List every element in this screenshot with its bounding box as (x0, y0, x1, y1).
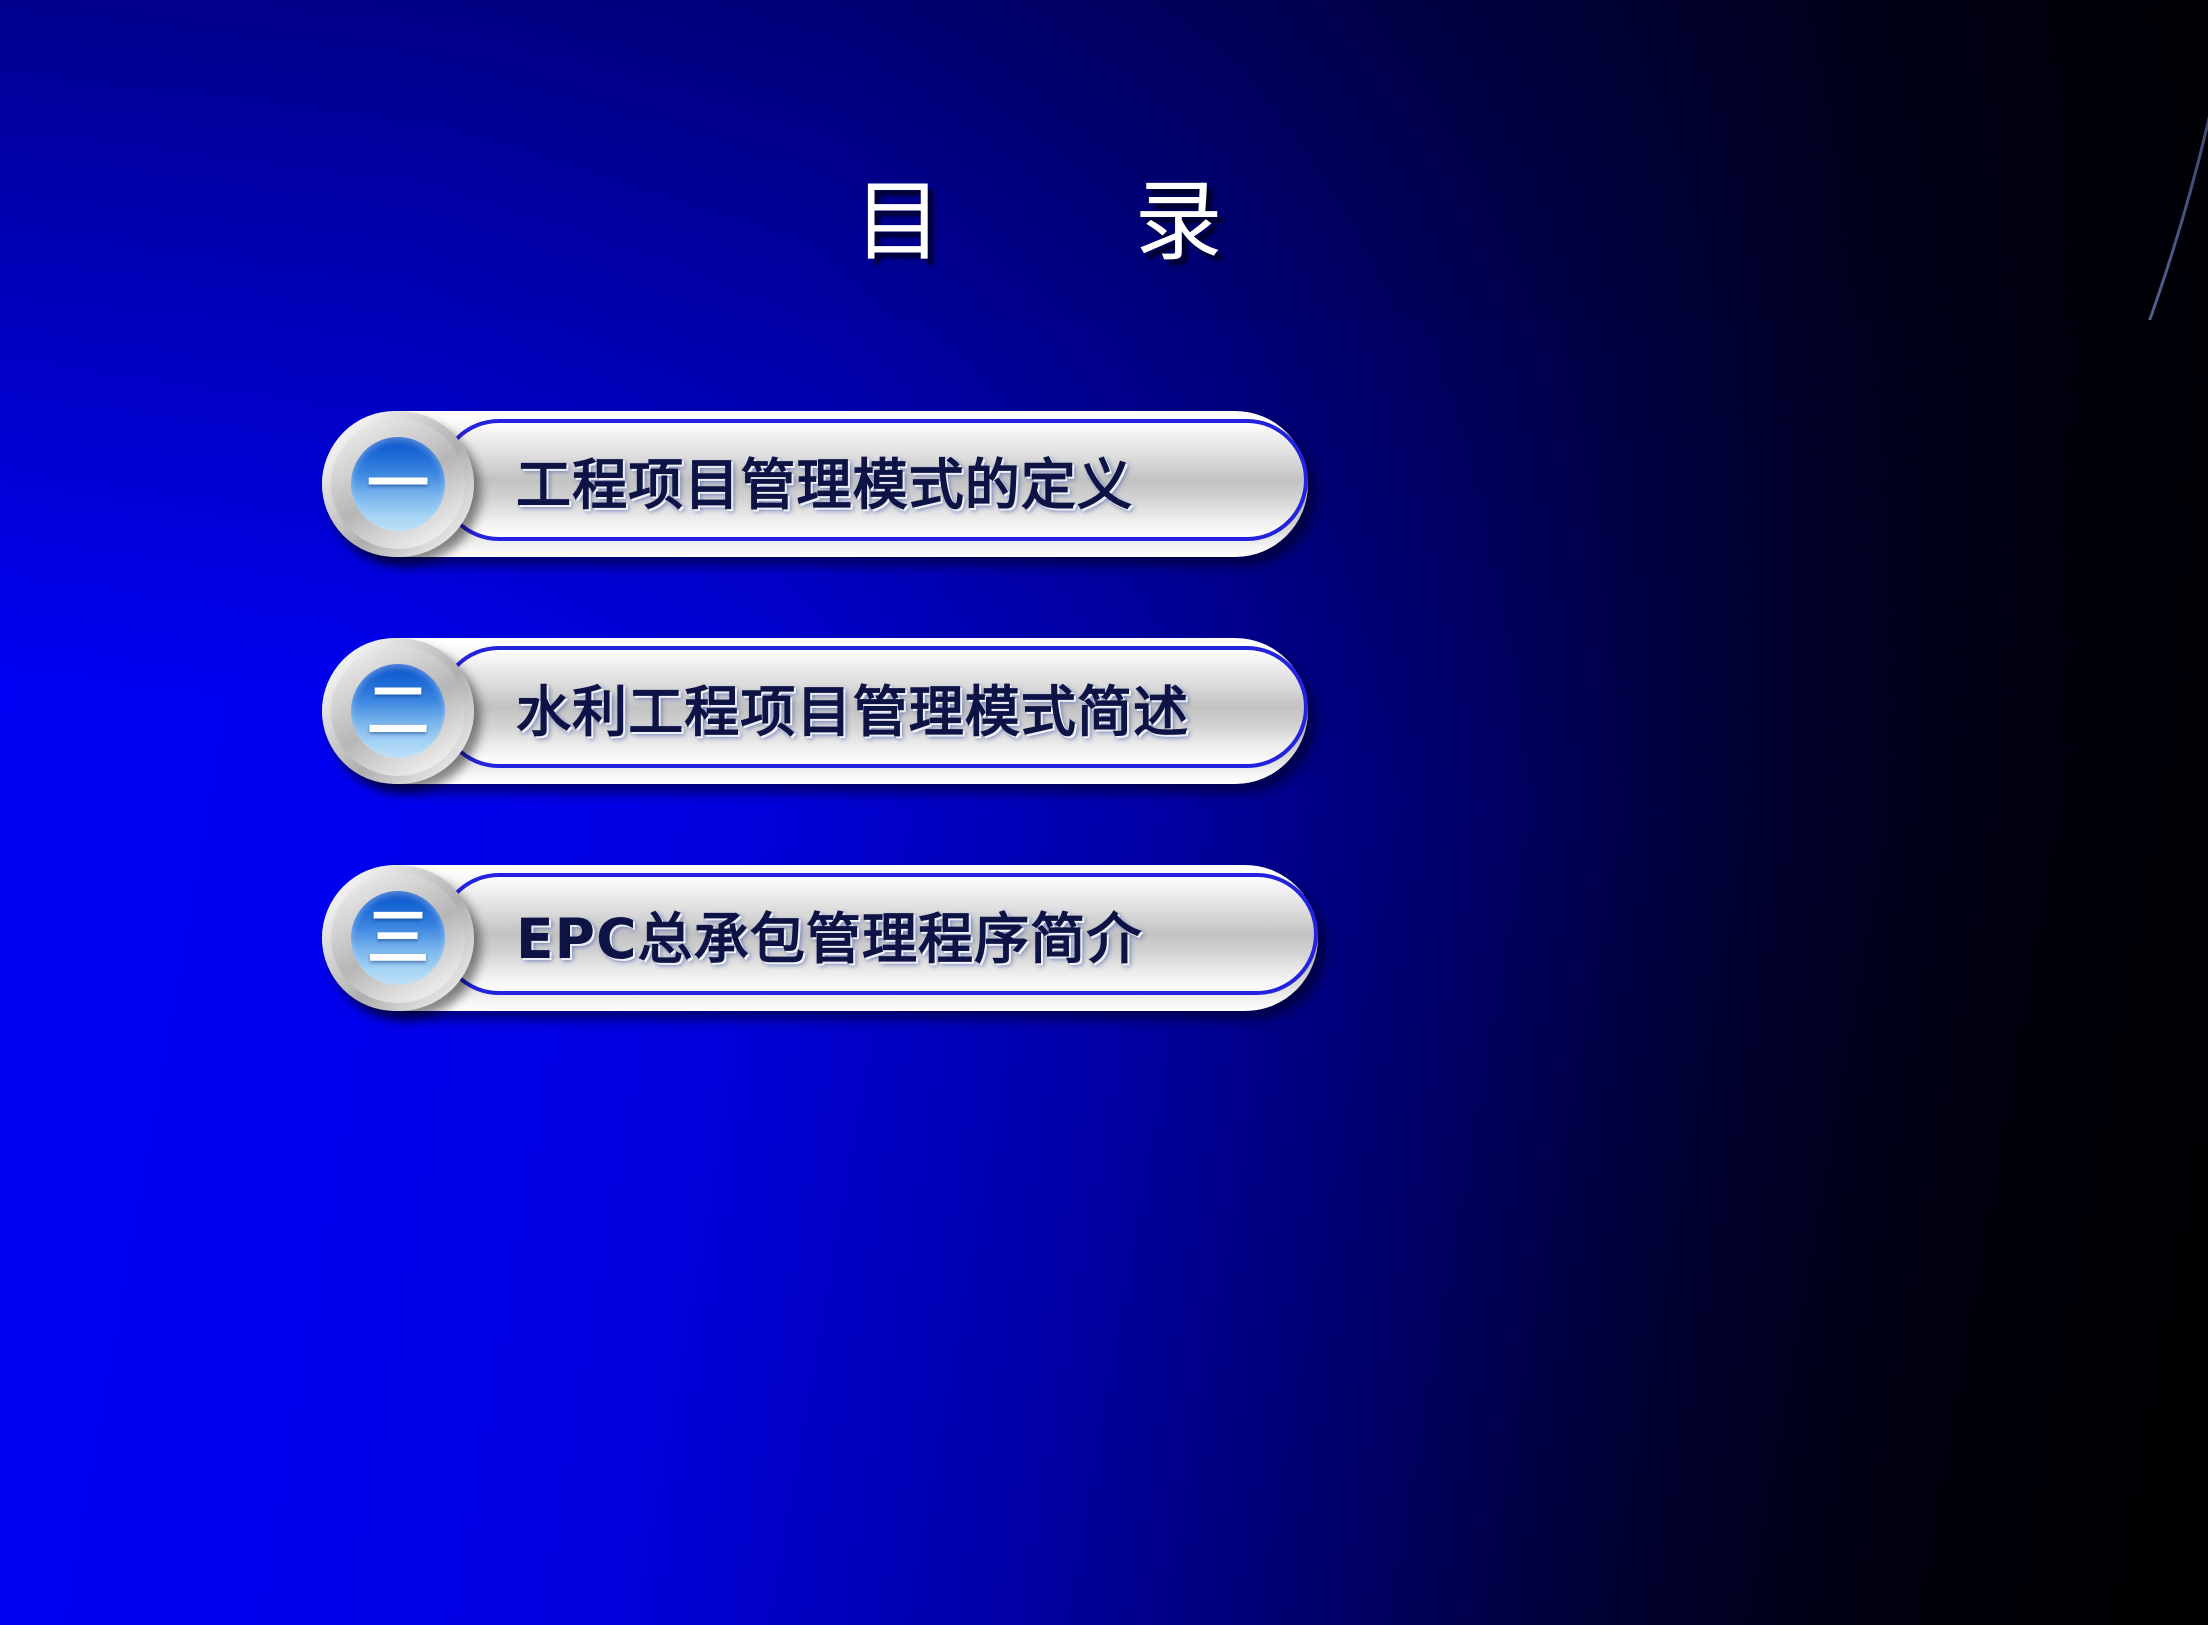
toc-item-number-3: 三 (367, 907, 429, 969)
toc-item-panel-3[interactable]: EPC总承包管理程序简介 (438, 873, 1318, 995)
badge-core-3: 三 (351, 891, 445, 985)
toc-item-number-2: 二 (367, 680, 429, 742)
badge-inner-ring-2: 二 (331, 646, 465, 776)
badge-inner-ring-3: 三 (331, 873, 465, 1003)
toc-item-number-badge-3[interactable]: 三 (322, 865, 474, 1011)
badge-core-2: 二 (351, 664, 445, 758)
toc-item-panel-2[interactable]: 水利工程项目管理模式简述 (438, 646, 1308, 768)
toc-item-label-3: EPC总承包管理程序简介 (516, 894, 1142, 974)
toc-item-number-badge-1[interactable]: 一 (322, 411, 474, 557)
presentation-slide: 目 录 工程项目管理模式的定义 一 水利工程项目管理模式简述 (0, 0, 2208, 1625)
list-item[interactable]: 工程项目管理模式的定义 一 (0, 405, 2208, 557)
badge-core-1: 一 (351, 437, 445, 531)
table-of-contents: 工程项目管理模式的定义 一 水利工程项目管理模式简述 二 (0, 405, 2208, 1086)
toc-item-number-1: 一 (367, 453, 429, 515)
page-title: 目 录 (0, 178, 2080, 266)
list-item[interactable]: 水利工程项目管理模式简述 二 (0, 632, 2208, 784)
toc-item-panel-1[interactable]: 工程项目管理模式的定义 (438, 419, 1308, 541)
badge-inner-ring-1: 一 (331, 419, 465, 549)
toc-item-label-1: 工程项目管理模式的定义 (516, 440, 1133, 520)
toc-item-number-badge-2[interactable]: 二 (322, 638, 474, 784)
list-item[interactable]: EPC总承包管理程序简介 三 (0, 859, 2208, 1011)
toc-item-label-2: 水利工程项目管理模式简述 (516, 667, 1189, 747)
